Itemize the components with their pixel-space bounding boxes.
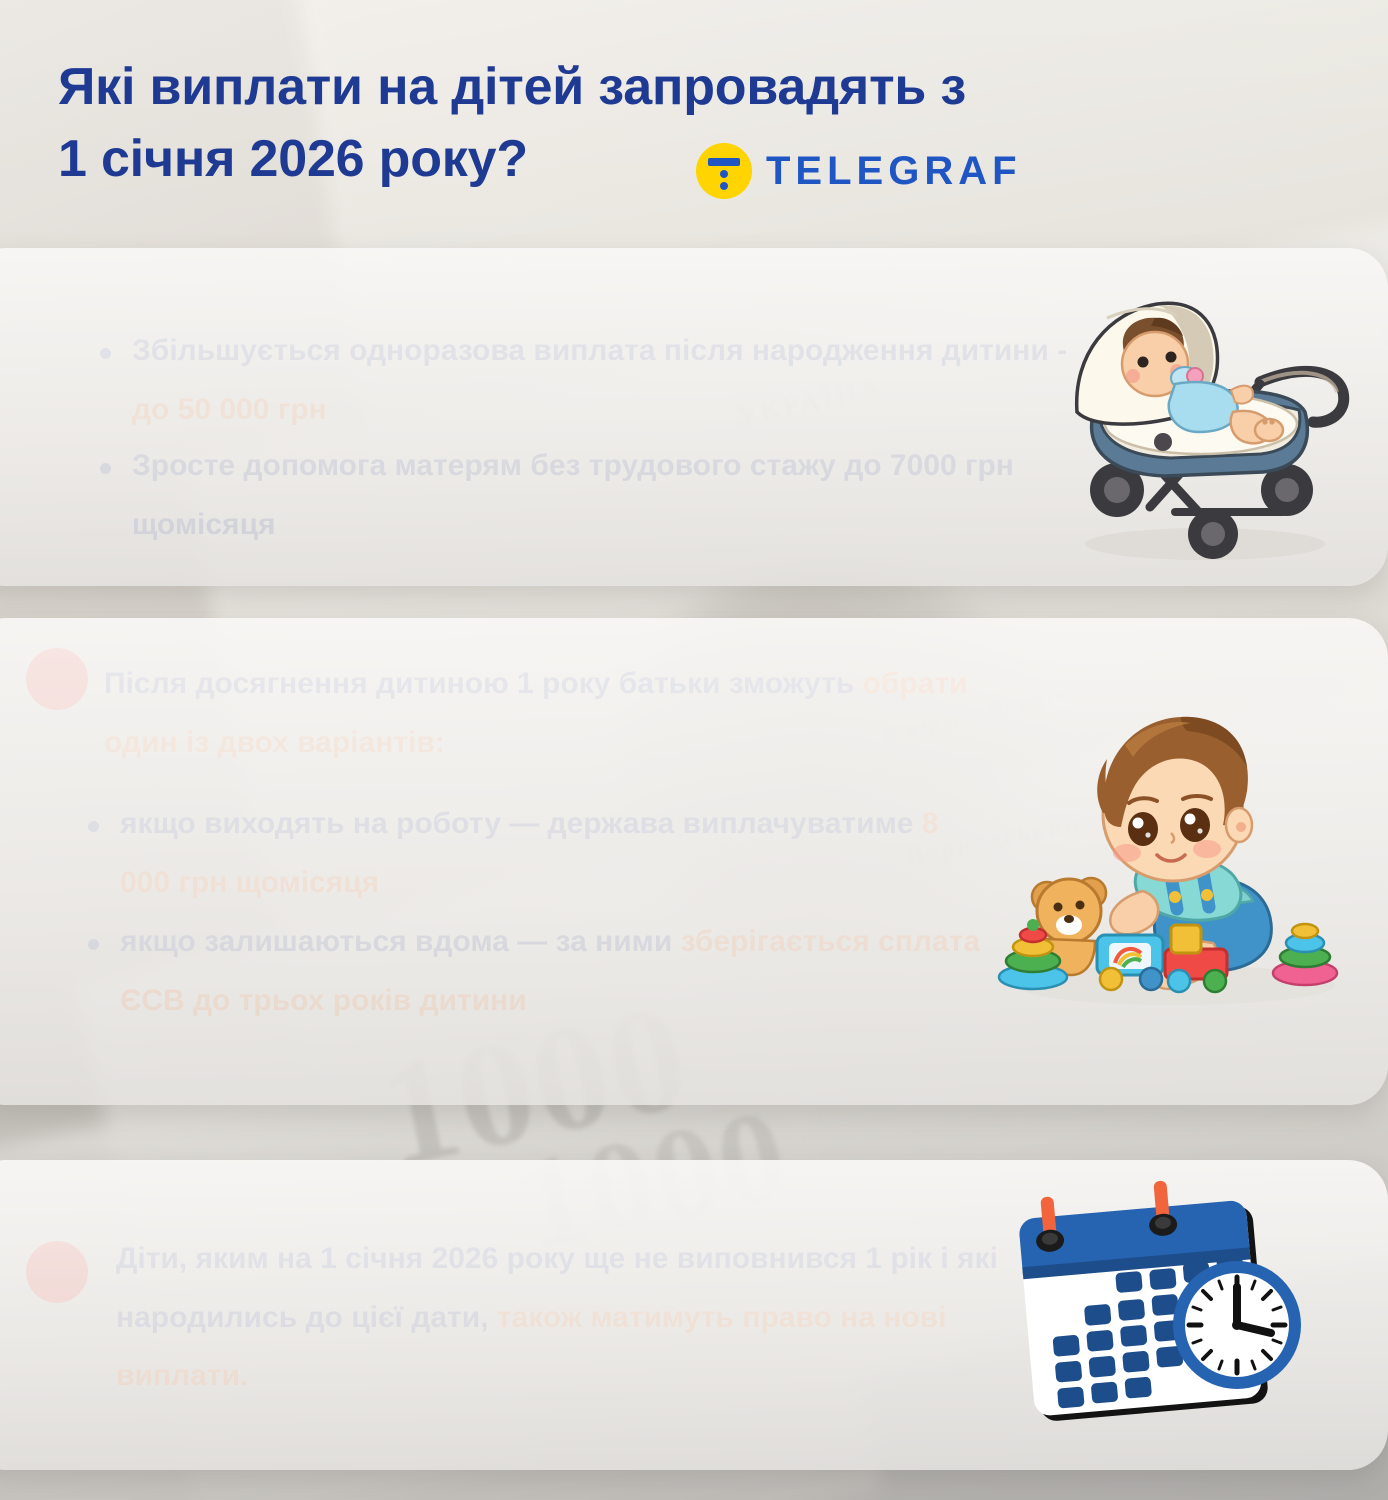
infographic-poster: 1000 1000 УКРАЇНА Вернадський НАЦІОНАЛЬН… (0, 0, 1388, 1500)
page-title: Які виплати на дітей запровадять з 1 січ… (58, 52, 1288, 196)
header: Які виплати на дітей запровадять з 1 січ… (0, 0, 1388, 248)
logo-wordmark: TELEGRAF (766, 149, 1022, 194)
toddler-playing-with-toys-illustration (985, 685, 1355, 1015)
baby-in-pram-illustration (1055, 272, 1365, 572)
logo-dot-shape (720, 182, 728, 190)
logo-bar-shape (708, 158, 740, 166)
telegraf-logo: TELEGRAF (696, 143, 1022, 199)
telegraf-mark-icon (696, 143, 752, 199)
logo-dot-shape (720, 170, 728, 178)
calendar-with-clock-illustration (1015, 1175, 1325, 1455)
